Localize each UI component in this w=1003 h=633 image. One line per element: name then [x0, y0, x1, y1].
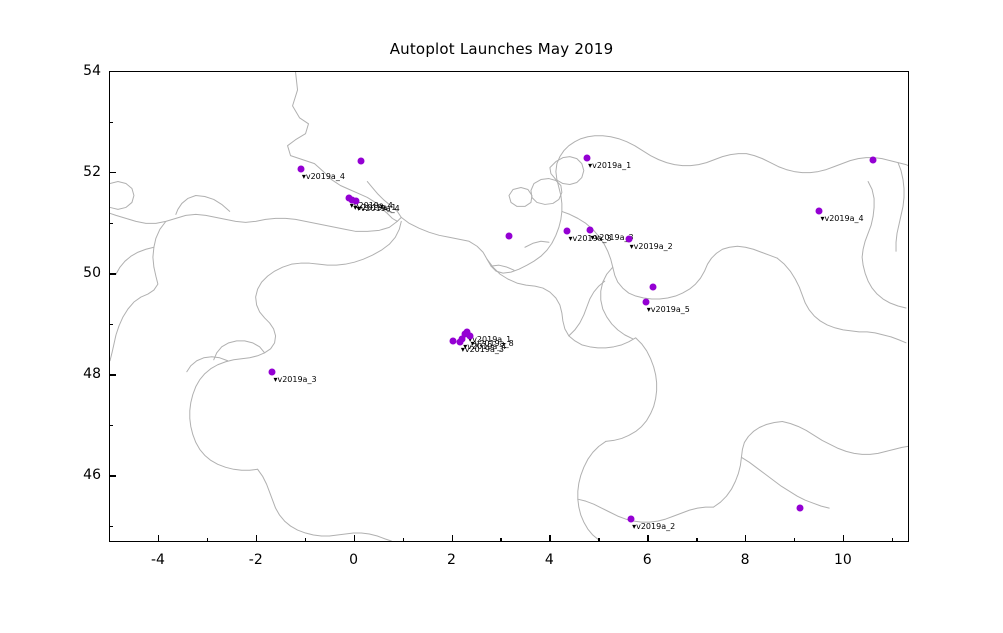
x-tick-label: 10: [834, 552, 852, 568]
data-point[interactable]: [870, 157, 877, 164]
y-tick: [109, 71, 116, 72]
x-tick: [647, 535, 648, 542]
x-minor-tick: [892, 538, 893, 542]
x-tick-label: -2: [249, 552, 263, 568]
y-tick-label: 50: [63, 265, 101, 281]
x-tick: [452, 535, 453, 542]
y-minor-tick: [109, 122, 113, 123]
x-tick-label: 6: [643, 552, 652, 568]
x-tick: [745, 535, 746, 542]
y-tick-label: 54: [63, 63, 101, 79]
x-tick: [549, 535, 550, 542]
x-minor-tick: [109, 538, 110, 542]
data-point-label: ▾v2019a_3: [461, 345, 504, 354]
x-minor-tick: [794, 538, 795, 542]
x-tick-label: 0: [349, 552, 358, 568]
data-point-label: ▾v2019a_2: [632, 522, 675, 531]
coastline-basemap: [110, 72, 908, 541]
x-tick: [158, 535, 159, 542]
page-title: Autoplot Launches May 2019: [0, 40, 1003, 58]
y-tick-label: 48: [63, 366, 101, 382]
y-minor-tick: [109, 425, 113, 426]
data-point[interactable]: [796, 504, 803, 511]
data-point-label: ▾v2019a_4: [357, 204, 400, 213]
x-minor-tick: [696, 538, 697, 542]
y-tick: [109, 475, 116, 476]
data-point[interactable]: [650, 283, 657, 290]
data-point-label: ▾v2019a_1: [588, 161, 631, 170]
y-tick-label: 52: [63, 164, 101, 180]
data-point-label: ▾v2019a_3: [273, 375, 316, 384]
y-minor-tick: [109, 324, 113, 325]
data-point-label: ▾v2019a_4: [820, 214, 863, 223]
x-tick: [354, 535, 355, 542]
x-minor-tick: [500, 538, 501, 542]
figure: Autoplot Launches May 2019: [0, 0, 1003, 633]
y-tick: [109, 172, 116, 173]
x-tick-label: 2: [447, 552, 456, 568]
x-tick-label: 8: [741, 552, 750, 568]
x-tick: [256, 535, 257, 542]
x-minor-tick: [305, 538, 306, 542]
data-point[interactable]: [449, 337, 456, 344]
data-point[interactable]: [505, 233, 512, 240]
x-minor-tick: [207, 538, 208, 542]
x-tick-label: -4: [151, 552, 165, 568]
x-minor-tick: [403, 538, 404, 542]
x-tick-label: 4: [545, 552, 554, 568]
data-point-label: ▾v2019a_5: [647, 305, 690, 314]
x-tick: [843, 535, 844, 542]
data-point-label: ▾v2019a_4: [302, 172, 345, 181]
x-minor-tick: [598, 538, 599, 542]
plot-axes: ▾v2019a_4▾v2019a_4▾v2019a_1▾v2019a_4▾v20…: [109, 71, 909, 542]
y-tick: [109, 273, 116, 274]
data-point-label: ▾v2019a_2: [630, 242, 673, 251]
data-point[interactable]: [358, 158, 365, 165]
y-tick: [109, 374, 116, 375]
y-minor-tick: [109, 223, 113, 224]
y-minor-tick: [109, 526, 113, 527]
y-tick-label: 46: [63, 467, 101, 483]
